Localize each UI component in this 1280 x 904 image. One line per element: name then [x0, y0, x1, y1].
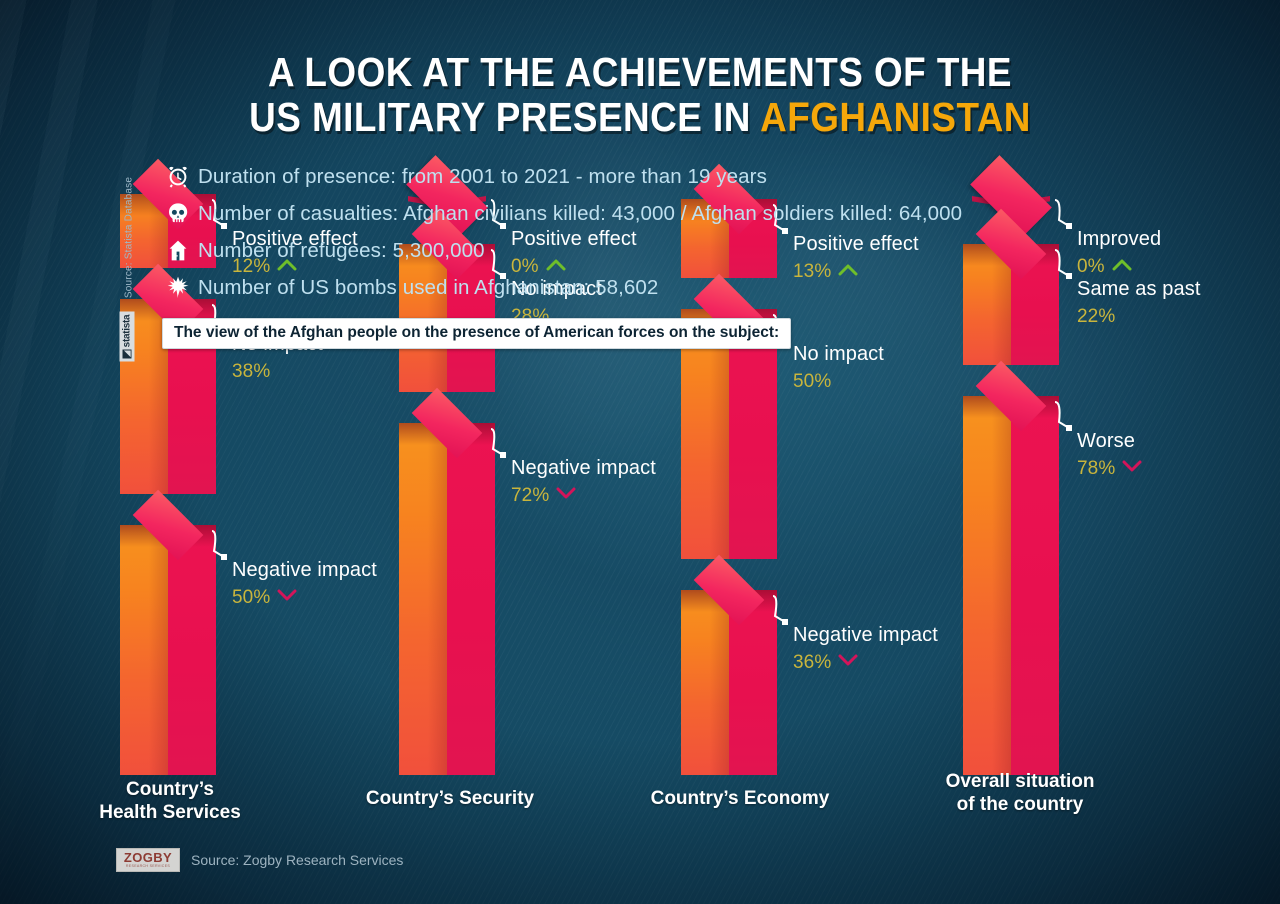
fact-text-refugees: Number of refugees: 5,300,000 [198, 239, 485, 263]
bar-face-top [120, 506, 216, 544]
column-caption-line-2: Health Services [99, 802, 241, 823]
footer: ZOGBY RESEARCH SERVICES Source: Zogby Re… [116, 848, 403, 872]
segment-label-text: Improved [1077, 228, 1161, 251]
trend-down-icon [1122, 460, 1142, 478]
bar-face-left [681, 590, 729, 775]
bar-segment [963, 225, 1059, 365]
column-caption-line-1: Country’s [126, 779, 214, 800]
segment-value: 0% [1077, 256, 1105, 278]
bar-segment-label: Negative impact72% [511, 457, 656, 507]
statista-logo-mark: ◢ [123, 349, 132, 358]
column-caption: Country’s Economy [620, 787, 860, 810]
segment-label-text: No impact [793, 343, 884, 366]
fact-row-refugees: Number of refugees: 5,300,000 [158, 232, 962, 269]
column-caption-line-1: Overall situation [946, 771, 1095, 792]
statista-watermark: Source: Statista Database ◢statista [114, 148, 140, 344]
column-caption-line-2: of the country [957, 794, 1084, 815]
segment-value: 50% [793, 371, 831, 393]
fact-row-casualties: Number of casualties: Afghan civilians k… [158, 195, 962, 232]
key-facts-list: Duration of presence: from 2001 to 2021 … [158, 158, 962, 306]
bar-segment-label: Worse78% [1077, 430, 1142, 480]
explosion-icon [158, 275, 198, 301]
column-caption-line-1: Country’s Security [366, 788, 534, 809]
bar-segment [963, 377, 1059, 775]
bar-segment [120, 506, 216, 775]
segment-label-text: Negative impact [793, 624, 938, 647]
title-line-1: A LOOK AT THE ACHIEVEMENTS OF THE [268, 49, 1012, 95]
title-line-2: US MILITARY PRESENCE IN AFGHANISTAN [64, 95, 1216, 140]
bar-segment [963, 177, 1059, 215]
segment-value: 38% [232, 361, 270, 383]
segment-value: 78% [1077, 458, 1115, 480]
column-caption: Country’sHealth Services [60, 778, 280, 824]
bar-face-right [447, 423, 495, 775]
zogby-logo-main: ZOGBY [124, 851, 172, 864]
fact-row-bombs: Number of US bombs used in Afghanistan: … [158, 269, 962, 306]
fact-row-duration: Duration of presence: from 2001 to 2021 … [158, 158, 962, 195]
bar-face-top [399, 404, 495, 442]
fact-text-duration: Duration of presence: from 2001 to 2021 … [198, 165, 767, 189]
fact-text-bombs: Number of US bombs used in Afghanistan: … [198, 276, 658, 300]
column-caption: Overall situationof the country [905, 770, 1135, 816]
segment-value: 22% [1077, 306, 1115, 328]
title-line-2-prefix: US MILITARY PRESENCE IN [249, 94, 760, 140]
bar-face-left [963, 396, 1011, 775]
trend-down-icon [556, 487, 576, 505]
trend-up-icon [1112, 258, 1132, 276]
statista-logo-text: statista [122, 315, 133, 348]
fact-text-casualties: Number of casualties: Afghan civilians k… [198, 202, 962, 226]
skull-icon [158, 201, 198, 227]
statista-logo: ◢statista [120, 312, 135, 362]
bar-face-top [963, 377, 1059, 415]
segment-label-text: Negative impact [232, 559, 377, 582]
bar-segment-label: No impact50% [793, 343, 884, 393]
column-caption: Country’s Security [340, 787, 560, 810]
bar-segment [399, 404, 495, 775]
bar-face-top [681, 571, 777, 609]
bar-segment-label: Negative impact36% [793, 624, 938, 674]
segment-value: 50% [232, 587, 270, 609]
zogby-logo: ZOGBY RESEARCH SERVICES [116, 848, 180, 872]
statista-source-text: Source: Statista Database [124, 143, 135, 333]
bar-face-left [120, 525, 168, 775]
segment-label-text: Worse [1077, 430, 1142, 453]
segment-value: 72% [511, 485, 549, 507]
subject-banner: The view of the Afghan people on the pre… [162, 318, 791, 349]
segment-label-text: Negative impact [511, 457, 656, 480]
house-icon [158, 238, 198, 264]
trend-down-icon [277, 589, 297, 607]
title-highlight-afghanistan: AFGHANISTAN [760, 94, 1031, 140]
zogby-logo-sub: RESEARCH SERVICES [126, 865, 170, 869]
page-title: A LOOK AT THE ACHIEVEMENTS OF THE US MIL… [64, 50, 1216, 140]
bar-face-left [399, 423, 447, 775]
bar-segment-label: Improved0% [1077, 228, 1161, 278]
footer-source-text: Source: Zogby Research Services [191, 852, 403, 868]
infographic-canvas: A LOOK AT THE ACHIEVEMENTS OF THE US MIL… [0, 0, 1280, 904]
bar-face-right [1011, 396, 1059, 775]
segment-label-text: Same as past [1077, 278, 1201, 301]
alarm-clock-icon [158, 164, 198, 190]
segment-value: 36% [793, 652, 831, 674]
bar-face-top [963, 225, 1059, 263]
bar-segment-label: Same as past22% [1077, 278, 1201, 328]
bar-segment [681, 571, 777, 775]
bar-segment-label: Negative impact50% [232, 559, 377, 609]
trend-down-icon [838, 654, 858, 672]
bar-face-right [168, 525, 216, 775]
column-caption-line-1: Country’s Economy [651, 788, 830, 809]
